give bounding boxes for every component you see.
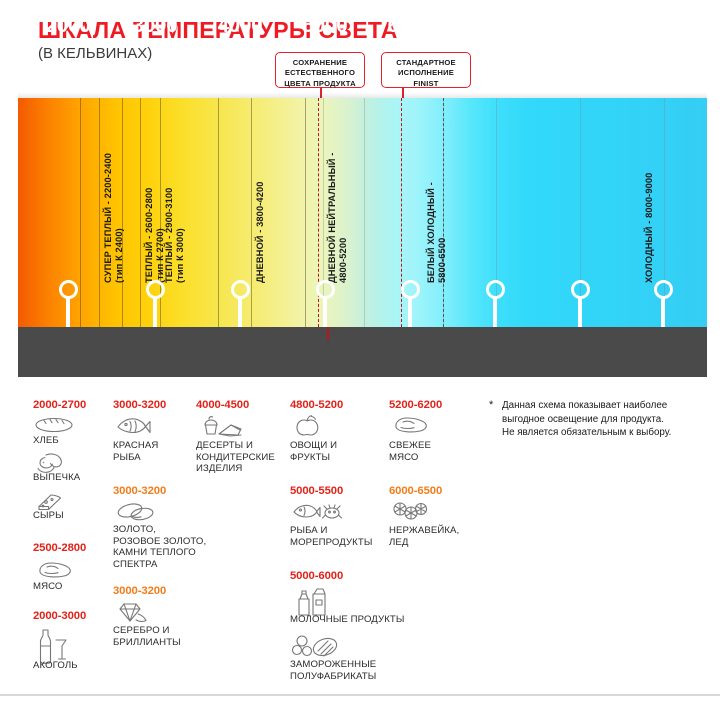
legend-item-line: ФРУКТЫ [290, 452, 337, 464]
legend-range-header: 3000-3200 [113, 485, 166, 497]
scale-number-2000: 2000 [46, 14, 91, 38]
meat-icon [34, 559, 74, 581]
callout-line: СТАНДАРТНОЕ [386, 58, 466, 68]
legend-item-line: БРИЛЛИАНТЫ [113, 637, 181, 649]
legend-item-line: РЫБА И [290, 525, 372, 537]
legend-item-label: СВЕЖЕЕМЯСО [389, 440, 431, 463]
scale-number-5000: 5000 [303, 14, 348, 38]
legend-range-header: 6000-6500 [389, 485, 442, 497]
scale-number-7000: 7000 [473, 14, 518, 38]
note-line: выгодное освещение для продукта. [502, 413, 718, 427]
legend-item-line: ПОЛУФАБРИКАТЫ [290, 671, 376, 683]
bread-icon [34, 416, 74, 434]
fresh-meat-icon [390, 414, 430, 436]
legend-range-header: 5000-5500 [290, 485, 343, 497]
legend-item-line: НЕРЖАВЕЙКА, [389, 525, 459, 537]
legend-item-line: ОВОЩИ И [290, 440, 337, 452]
stainless-ice-icon [390, 500, 430, 522]
band-label-main: ХОЛОДНЫЙ - 8000-9000 [644, 173, 654, 283]
scale-marker-9000 [654, 280, 673, 299]
legend-range-header: 3000-3200 [113, 585, 166, 597]
frozen-food-icon [291, 633, 339, 659]
scale-marker-6000 [401, 280, 420, 299]
diamond-icon [114, 600, 150, 626]
band-white-cold-label: БЕЛЫЙ ХОЛОДНЫЙ -5800-6500 [426, 182, 448, 283]
band-label-sub: (тип К 3000) [175, 188, 186, 283]
legend-item-label: КРАСНАЯРЫБА [113, 440, 158, 463]
legend-item-line: ЗАМОРОЖЕННЫЕ [290, 659, 376, 671]
legend-item-line: МЯСО [33, 581, 63, 593]
legend-item-label: СЫРЫ [33, 510, 64, 522]
infographic-root: ШКАЛА ТЕМПЕРАТУРЫ СВЕТА (В КЕЛЬВИНАХ) СО… [0, 0, 720, 704]
scale-number-4000: 4000 [218, 14, 263, 38]
scale-number-8000: 8000 [558, 14, 603, 38]
band-label-main: СУПЕР ТЕПЛЫЙ - 2200-2400 [103, 153, 114, 283]
band-daylight-label: ДНЕВНОЙ - 3800-4200 [255, 181, 265, 283]
legend-range-header: 2500-2800 [33, 542, 86, 554]
band-label-sub: 5800-6500 [437, 182, 448, 283]
callout-standard-finist[interactable]: СТАНДАРТНОЕИСПОЛНЕНИЕFINIST [381, 52, 471, 88]
legend-item-label: ВЫПЕЧКА [33, 472, 80, 484]
legend-item-label: ЗОЛОТО,РОЗОВОЕ ЗОЛОТО,КАМНИ ТЕПЛОГОСПЕКТ… [113, 524, 206, 570]
legend-item-line: МОЛОЧНЫЕ ПРОДУКТЫ [290, 614, 404, 626]
callout-natural-color[interactable]: СОХРАНЕНИЕЕСТЕСТВЕННОГОЦВЕТА ПРОДУКТА [275, 52, 365, 88]
scale-marker-7000 [486, 280, 505, 299]
band-label-main: ТЕПЛЫЙ - 2900-3100 [164, 188, 175, 283]
kelvin-scale-bar [18, 327, 707, 377]
legend-item-line: СПЕКТРА [113, 559, 206, 571]
band-daylight-neutral-label: ДНЕВНОЙ НЕЙТРАЛЬНЫЙ -4800-5200 [327, 153, 349, 283]
legend-item-line: АКОГОЛЬ [33, 660, 78, 672]
legend-item-line: МЯСО [389, 452, 431, 464]
legend-item-line: ДЕСЕРТЫ И [196, 440, 275, 452]
legend-item-label: ДЕСЕРТЫ ИКОНДИТЕРСКИЕИЗДЕЛИЯ [196, 440, 275, 475]
legend-item-line: ВЫПЕЧКА [33, 472, 80, 484]
legend-item-line: ХЛЕБ [33, 435, 59, 447]
fish-seafood-icon [291, 500, 343, 524]
band-warm-2700-label: ТЕПЛЫЙ - 2600-2800(тип К 2700) [144, 188, 166, 283]
band-label-sub: 4800-5200 [338, 153, 349, 283]
legend-item-line: РОЗОВОЕ ЗОЛОТО, [113, 536, 206, 548]
scale-marker-5000 [316, 280, 335, 299]
band-label-sub: (тип К 2400) [114, 153, 125, 283]
note-line: Не является обязательным к выбору. [502, 426, 718, 440]
vegetables-fruit-icon [291, 414, 329, 438]
legend-item-label: НЕРЖАВЕЙКА,ЛЕД [389, 525, 459, 548]
legend-item-line: МОРЕПРОДУКТЫ [290, 537, 372, 549]
scale-number-9000: 9000 [641, 14, 686, 38]
callout-line: ЕСТЕСТВЕННОГО [280, 68, 360, 78]
note-asterisk: * [489, 399, 493, 411]
band-label-main: ДНЕВНОЙ НЕЙТРАЛЬНЫЙ - [327, 153, 338, 283]
gold-rings-icon [114, 501, 158, 523]
legend-item-label: РЫБА ИМОРЕПРОДУКТЫ [290, 525, 372, 548]
note-line: Данная схема показывает наиболее [502, 399, 718, 413]
disclaimer-note: Данная схема показывает наиболеевыгодное… [502, 399, 718, 440]
band-warm-3000-label: ТЕПЛЫЙ - 2900-3100(тип К 3000) [164, 188, 186, 283]
legend-item-line: ЗОЛОТО, [113, 524, 206, 536]
legend-item-line: СЫРЫ [33, 510, 64, 522]
scale-number-3000: 3000 [133, 14, 178, 38]
legend-item-line: СВЕЖЕЕ [389, 440, 431, 452]
legend-item-line: СЕРЕБРО И [113, 625, 181, 637]
dessert-icon [197, 414, 253, 442]
legend-range-header: 5200-6200 [389, 399, 442, 411]
callout-line: FINIST [386, 79, 466, 89]
scale-tick-red-5000 [327, 327, 329, 340]
legend-item-line: ИЗДЕЛИЯ [196, 463, 275, 475]
red-fish-icon [114, 414, 152, 438]
band-super-warm-label: СУПЕР ТЕПЛЫЙ - 2200-2400(тип К 2400) [103, 153, 125, 283]
legend-range-header: 4000-4500 [196, 399, 249, 411]
legend-item-label: ХЛЕБ [33, 435, 59, 447]
legend-item-line: КОНДИТЕРСКИЕ [196, 452, 275, 464]
legend-item-label: ОВОЩИ ИФРУКТЫ [290, 440, 337, 463]
legend-range-header: 2000-2700 [33, 399, 86, 411]
legend-item-label: АКОГОЛЬ [33, 660, 78, 672]
bottom-divider [0, 694, 720, 696]
legend-item-label: ЗАМОРОЖЕННЫЕПОЛУФАБРИКАТЫ [290, 659, 376, 682]
legend-item-line: РЫБА [113, 452, 158, 464]
legend-range-header: 3000-3200 [113, 399, 166, 411]
legend-item-label: СЕРЕБРО ИБРИЛЛИАНТЫ [113, 625, 181, 648]
legend-range-header: 5000-6000 [290, 570, 343, 582]
scale-marker-2000 [59, 280, 78, 299]
scale-marker-4000 [231, 280, 250, 299]
scale-number-6000: 6000 [388, 14, 433, 38]
legend-item-label: МЯСО [33, 581, 63, 593]
legend-item-line: ЛЕД [389, 537, 459, 549]
band-label-main: ТЕПЛЫЙ - 2600-2800 [144, 188, 155, 283]
scale-marker-8000 [571, 280, 590, 299]
band-cold-label: ХОЛОДНЫЙ - 8000-9000 [644, 173, 654, 283]
page-subtitle: (В КЕЛЬВИНАХ) [38, 45, 152, 62]
callout-line: СОХРАНЕНИЕ [280, 58, 360, 68]
scale-marker-3000 [146, 280, 165, 299]
legend-range-header: 4800-5200 [290, 399, 343, 411]
legend-item-line: КРАСНАЯ [113, 440, 158, 452]
callout-line: ИСПОЛНЕНИЕ [386, 68, 466, 78]
band-label-main: БЕЛЫЙ ХОЛОДНЫЙ - [426, 182, 437, 283]
legend-item-label: МОЛОЧНЫЕ ПРОДУКТЫ [290, 614, 404, 626]
legend-range-header: 2000-3000 [33, 610, 86, 622]
legend-item-line: КАМНИ ТЕПЛОГО [113, 547, 206, 559]
band-label-main: ДНЕВНОЙ - 3800-4200 [255, 181, 265, 283]
